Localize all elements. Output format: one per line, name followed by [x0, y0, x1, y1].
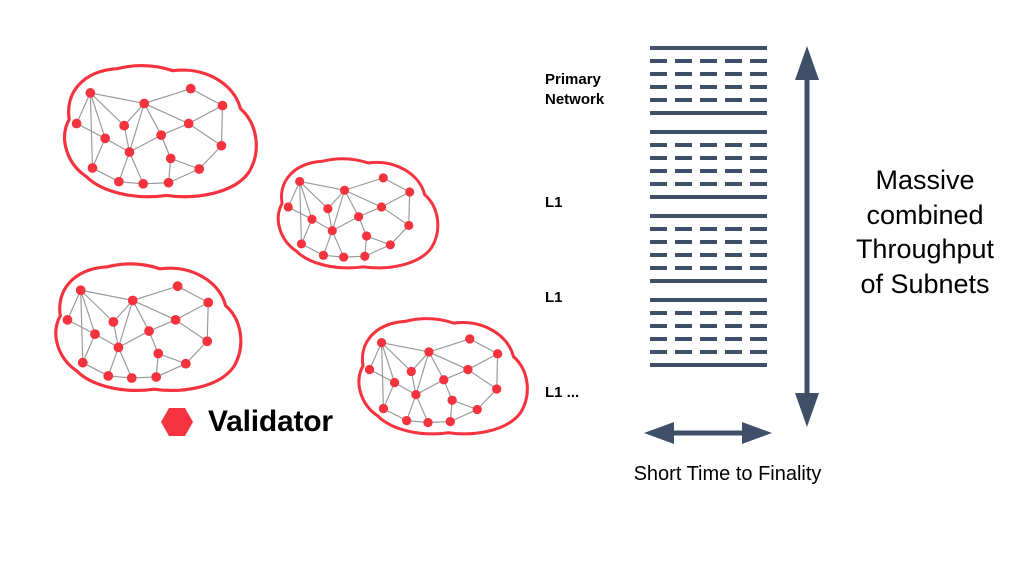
block-dash-row	[650, 72, 767, 76]
block-dash	[725, 72, 742, 76]
block-dash	[650, 227, 667, 231]
block-dash	[675, 266, 692, 270]
block-dash	[700, 156, 717, 160]
block-dash-row	[650, 240, 767, 244]
block-dash	[700, 324, 717, 328]
block-dash	[725, 350, 742, 354]
block-dash-row	[650, 169, 767, 173]
block-dash	[650, 311, 667, 315]
subnet-bottom-left	[44, 256, 248, 400]
block-dash	[650, 253, 667, 257]
block-dash	[750, 156, 767, 160]
block-dash	[725, 143, 742, 147]
block-dash-row	[650, 143, 767, 147]
block-dash	[700, 227, 717, 231]
block-dash	[650, 156, 667, 160]
block-dash	[650, 324, 667, 328]
block-dash-row	[650, 85, 767, 89]
block-dash-row	[650, 350, 767, 354]
subnet-graph-svg	[348, 312, 534, 442]
block-bottom-bar	[650, 363, 767, 367]
block-dash	[675, 253, 692, 257]
block-dash-row	[650, 253, 767, 257]
block-dash	[750, 337, 767, 341]
hexagon-icon	[160, 405, 194, 439]
subnet-graph-svg	[52, 58, 264, 206]
block-dash	[675, 72, 692, 76]
block-top-bar	[650, 46, 767, 50]
block-dash	[675, 350, 692, 354]
block-dash	[700, 85, 717, 89]
block-dash-row	[650, 266, 767, 270]
block-group-primary-network	[650, 46, 767, 115]
block-dash	[675, 311, 692, 315]
block-dash	[650, 98, 667, 102]
block-dash	[750, 182, 767, 186]
subnet-nodes	[365, 334, 502, 427]
block-bottom-bar	[650, 195, 767, 199]
finality-caption: Short Time to Finality	[600, 462, 855, 486]
validator-legend-label: Validator	[208, 407, 333, 437]
stack-label-l1-2: L1	[545, 288, 563, 308]
block-dash	[675, 182, 692, 186]
block-dash	[750, 240, 767, 244]
block-dash	[725, 227, 742, 231]
block-dash-row	[650, 59, 767, 63]
block-dash	[700, 98, 717, 102]
block-dash	[650, 169, 667, 173]
block-dash	[700, 350, 717, 354]
block-dash-row	[650, 227, 767, 231]
block-dash	[675, 143, 692, 147]
block-dash	[650, 337, 667, 341]
block-dash	[750, 169, 767, 173]
block-dash	[650, 240, 667, 244]
double-headed-horizontal-arrow	[642, 420, 774, 446]
block-dash	[750, 72, 767, 76]
block-dash	[725, 156, 742, 160]
block-dash	[700, 337, 717, 341]
subnet-middle-right	[268, 152, 444, 276]
block-dash	[725, 311, 742, 315]
block-dash	[700, 143, 717, 147]
block-dash	[700, 266, 717, 270]
subnet-nodes	[284, 173, 415, 261]
block-dash	[675, 227, 692, 231]
block-top-bar	[650, 298, 767, 302]
stack-label-l1-3: L1 ...	[545, 383, 579, 403]
block-dash	[750, 59, 767, 63]
diagram-canvas: Validator Primary Network L1 L1 L1 ...	[0, 0, 1020, 571]
block-dash-row	[650, 98, 767, 102]
block-dash	[700, 311, 717, 315]
block-bottom-bar	[650, 279, 767, 283]
block-dash	[725, 169, 742, 173]
block-dash-row	[650, 182, 767, 186]
block-group-l1-3	[650, 298, 767, 367]
block-dash	[725, 98, 742, 102]
block-dash	[650, 182, 667, 186]
block-dash	[650, 143, 667, 147]
block-dash	[725, 59, 742, 63]
subnet-graph-svg	[44, 256, 248, 400]
block-dash	[675, 240, 692, 244]
throughput-caption: Massive combined Throughput of Subnets	[832, 163, 1018, 301]
block-dash	[700, 169, 717, 173]
block-dash	[700, 253, 717, 257]
block-dash	[725, 324, 742, 328]
subnet-nodes	[72, 84, 228, 189]
block-dash	[700, 240, 717, 244]
block-dash	[750, 227, 767, 231]
block-dash	[700, 182, 717, 186]
block-dash	[750, 324, 767, 328]
double-headed-vertical-arrow	[792, 44, 822, 429]
block-top-bar	[650, 130, 767, 134]
block-dash-row	[650, 337, 767, 341]
block-group-l1-2	[650, 214, 767, 283]
block-dash	[650, 350, 667, 354]
block-dash	[750, 253, 767, 257]
block-top-bar	[650, 214, 767, 218]
block-dash	[675, 156, 692, 160]
block-dash	[700, 59, 717, 63]
block-stack	[650, 46, 767, 367]
block-dash-row	[650, 156, 767, 160]
block-dash	[650, 59, 667, 63]
block-dash	[650, 266, 667, 270]
block-dash	[750, 85, 767, 89]
block-dash	[675, 59, 692, 63]
block-dash	[725, 85, 742, 89]
stack-label-primary-network: Primary Network	[545, 70, 604, 110]
block-dash	[675, 324, 692, 328]
block-dash	[725, 182, 742, 186]
block-group-l1-1	[650, 130, 767, 199]
block-bottom-bar	[650, 111, 767, 115]
block-dash	[750, 311, 767, 315]
block-dash	[675, 169, 692, 173]
block-dash-row	[650, 311, 767, 315]
block-dash	[725, 253, 742, 257]
block-dash	[650, 72, 667, 76]
block-dash-row	[650, 324, 767, 328]
block-dash	[750, 350, 767, 354]
block-dash	[750, 266, 767, 270]
block-dash	[750, 143, 767, 147]
subnet-nodes	[63, 281, 214, 383]
block-dash	[650, 85, 667, 89]
subnet-graph-svg	[268, 152, 444, 276]
validator-legend: Validator	[160, 405, 333, 439]
subnet-bottom-right	[348, 312, 534, 442]
block-dash	[725, 266, 742, 270]
block-dash	[725, 240, 742, 244]
stack-label-l1-1: L1	[545, 193, 563, 213]
subnet-top-left	[52, 58, 264, 206]
block-dash	[700, 72, 717, 76]
block-dash	[675, 85, 692, 89]
block-dash	[675, 98, 692, 102]
block-dash	[750, 98, 767, 102]
block-dash	[725, 337, 742, 341]
block-dash	[675, 337, 692, 341]
